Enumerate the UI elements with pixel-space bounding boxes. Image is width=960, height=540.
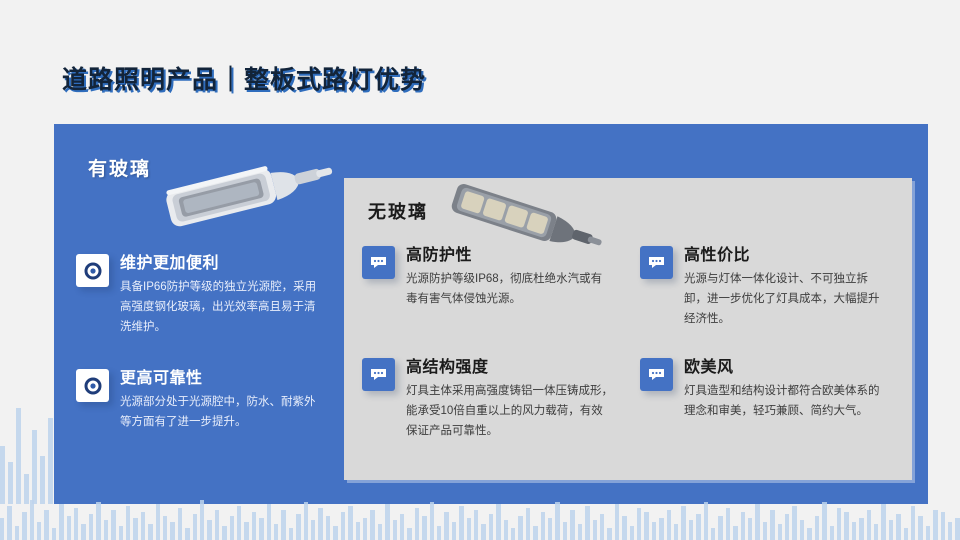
speech-bubble-icon [362, 246, 395, 279]
feature-title: 高性价比 [684, 246, 888, 266]
speech-bubble-icon [362, 358, 395, 391]
decorative-bar [30, 500, 34, 540]
decorative-bar [430, 502, 434, 540]
decorative-bar [200, 500, 204, 540]
decorative-bar [178, 508, 182, 540]
decorative-bar [615, 504, 619, 540]
decorative-bar [44, 510, 48, 540]
ring-icon [76, 254, 109, 287]
decorative-bar [830, 526, 834, 540]
with-glass-label: 有玻璃 [88, 154, 151, 181]
decorative-bar [452, 522, 456, 540]
decorative-bar [593, 520, 597, 540]
feature-item[interactable]: 欧美风 灯具造型和结构设计都符合欧美体系的理念和审美，轻巧兼顾、简约大气。 [640, 358, 888, 421]
decorative-bar [778, 524, 782, 540]
decorative-bar [541, 512, 545, 540]
decorative-bar [15, 526, 19, 540]
decorative-bar [481, 524, 485, 540]
decorative-bar [867, 510, 871, 540]
decorative-bar [24, 474, 29, 504]
decorative-bar [518, 516, 522, 540]
decorative-bar [904, 528, 908, 540]
page-title: 道路照明产品｜整板式路灯优势 [62, 60, 426, 96]
decorative-bar [815, 516, 819, 540]
decorative-bar [74, 508, 78, 540]
decorative-bar [548, 518, 552, 540]
decorative-bar [326, 516, 330, 540]
decorative-bar [296, 514, 300, 540]
decorative-bar [274, 524, 278, 540]
feature-description: 光源防护等级IP68，彻底杜绝水汽或有毒有害气体侵蚀光源。 [406, 269, 612, 309]
feature-title: 高结构强度 [406, 358, 614, 378]
decorative-bar [96, 502, 100, 540]
decorative-bar [926, 526, 930, 540]
no-glass-label: 无玻璃 [368, 198, 428, 224]
decorative-bar [126, 506, 130, 540]
decorative-bar [333, 526, 337, 540]
decorative-bar [356, 522, 360, 540]
decorative-bar [32, 430, 37, 504]
decorative-bar [726, 508, 730, 540]
feature-title: 高防护性 [406, 246, 612, 266]
feature-description: 灯具主体采用高强度铸铝一体压铸成形，能承受10倍自重以上的风力载荷，有效保证产品… [406, 381, 614, 441]
feature-description: 光源与灯体一体化设计、不可独立拆卸，进一步优化了灯具成本，大幅提升经济性。 [684, 269, 888, 329]
decorative-bar [667, 510, 671, 540]
decorative-bar [696, 514, 700, 540]
decorative-bar [148, 524, 152, 540]
decorative-bar [0, 518, 4, 540]
feature-title: 欧美风 [684, 358, 888, 378]
decorative-bar [622, 516, 626, 540]
integrated-street-lamp-icon [439, 182, 609, 256]
comparison-panel: 有玻璃 无玻璃 [54, 124, 928, 504]
decorative-bar [578, 524, 582, 540]
decorative-bar [918, 516, 922, 540]
decorative-bar [474, 510, 478, 540]
decorative-bar [844, 512, 848, 540]
decorative-bar [215, 510, 219, 540]
decorative-bar [881, 504, 885, 540]
decorative-bar [504, 520, 508, 540]
decorative-bar [822, 502, 826, 540]
decorative-bar [341, 512, 345, 540]
feature-description: 具备IP66防护等级的独立光源腔，采用高强度钢化玻璃，出光效率高且易于清洗维护。 [120, 277, 326, 337]
slide-canvas: 道路照明产品｜整板式路灯优势 有玻璃 无玻璃 [0, 0, 960, 540]
decorative-bar [133, 518, 137, 540]
decorative-bar [785, 514, 789, 540]
decorative-bar [511, 528, 515, 540]
decorative-bar [156, 504, 160, 540]
decorative-bar [141, 512, 145, 540]
decorative-bar [185, 528, 189, 540]
decorative-bar [385, 504, 389, 540]
street-lamp-with-glass-icon [149, 154, 339, 234]
decorative-bar [533, 526, 537, 540]
decorative-bar [393, 520, 397, 540]
decorative-bar [733, 526, 737, 540]
decorative-bar [252, 512, 256, 540]
decorative-bar [755, 504, 759, 540]
decorative-bar [933, 510, 937, 540]
decorative-bar [415, 508, 419, 540]
decorative-bar [40, 456, 45, 504]
decorative-bar [89, 514, 93, 540]
decorative-bar [600, 514, 604, 540]
decorative-bar [896, 514, 900, 540]
decorative-bar [770, 510, 774, 540]
decorative-bar [674, 524, 678, 540]
decorative-bar [48, 418, 53, 504]
feature-item[interactable]: 高防护性 光源防护等级IP68，彻底杜绝水汽或有毒有害气体侵蚀光源。 [362, 246, 612, 309]
feature-description: 灯具造型和结构设计都符合欧美体系的理念和审美，轻巧兼顾、简约大气。 [684, 381, 888, 421]
decorative-bar [859, 518, 863, 540]
decorative-bar [555, 502, 559, 540]
decorative-bar [437, 526, 441, 540]
decorative-bar [267, 504, 271, 540]
decorative-bar [563, 522, 567, 540]
speech-bubble-icon [640, 358, 673, 391]
decorative-bar [496, 504, 500, 540]
decorative-bar [407, 528, 411, 540]
decorative-bar [318, 508, 322, 540]
feature-item[interactable]: 维护更加便利 具备IP66防护等级的独立光源腔，采用高强度钢化玻璃，出光效率高且… [76, 254, 326, 337]
decorative-bar [570, 510, 574, 540]
speech-bubble-icon [640, 246, 673, 279]
feature-item[interactable]: 更高可靠性 光源部分处于光源腔中，防水、耐紫外等方面有了进一步提升。 [76, 369, 326, 432]
decorative-bar [104, 520, 108, 540]
decorative-bar [889, 520, 893, 540]
decorative-bars-bottom [0, 500, 960, 540]
decorative-bar [311, 520, 315, 540]
feature-title: 更高可靠性 [120, 369, 326, 389]
decorative-bar [444, 512, 448, 540]
decorative-bar [837, 508, 841, 540]
decorative-bar [955, 518, 959, 540]
decorative-bar [807, 528, 811, 540]
slide-header: 道路照明产品｜整板式路灯优势 [0, 22, 960, 82]
decorative-bar [244, 522, 248, 540]
decorative-bar [230, 516, 234, 540]
decorative-bar [119, 526, 123, 540]
decorative-bar [8, 462, 13, 504]
decorative-bar [718, 516, 722, 540]
decorative-bar [222, 526, 226, 540]
feature-title: 维护更加便利 [120, 254, 326, 274]
decorative-bar [741, 512, 745, 540]
decorative-bar [637, 508, 641, 540]
decorative-bar [630, 526, 634, 540]
decorative-bar [400, 514, 404, 540]
decorative-bar [16, 408, 21, 504]
decorative-bar [304, 502, 308, 540]
decorative-bar [37, 522, 41, 540]
decorative-bar [711, 528, 715, 540]
decorative-bar [370, 510, 374, 540]
decorative-bar [7, 506, 11, 540]
decorative-bar [874, 524, 878, 540]
decorative-bar [800, 520, 804, 540]
decorative-bar [748, 518, 752, 540]
decorative-bar [585, 506, 589, 540]
decorative-bar [948, 522, 952, 540]
decorative-bar [681, 506, 685, 540]
decorative-bar [163, 516, 167, 540]
feature-item[interactable]: 高性价比 光源与灯体一体化设计、不可独立拆卸，进一步优化了灯具成本，大幅提升经济… [640, 246, 888, 329]
decorative-bar [259, 518, 263, 540]
decorative-bar [459, 506, 463, 540]
decorative-bar [363, 518, 367, 540]
decorative-bar [348, 506, 352, 540]
decorative-bar [763, 522, 767, 540]
decorative-bar [941, 512, 945, 540]
decorative-bar [22, 512, 26, 540]
decorative-bar [67, 516, 71, 540]
decorative-bar [81, 524, 85, 540]
decorative-bar [111, 510, 115, 540]
decorative-bar [289, 528, 293, 540]
decorative-bar [59, 504, 63, 540]
no-glass-panel: 无玻璃 [344, 178, 912, 480]
decorative-bar [193, 514, 197, 540]
decorative-bar [911, 506, 915, 540]
decorative-bar [52, 528, 56, 540]
decorative-bar [607, 528, 611, 540]
decorative-bar [704, 502, 708, 540]
decorative-bar [526, 508, 530, 540]
decorative-bar [852, 522, 856, 540]
decorative-bar [652, 522, 656, 540]
decorative-bar [207, 520, 211, 540]
decorative-bar [0, 446, 5, 504]
decorative-bar [689, 520, 693, 540]
decorative-bar [422, 516, 426, 540]
feature-item[interactable]: 高结构强度 灯具主体采用高强度铸铝一体压铸成形，能承受10倍自重以上的风力载荷，… [362, 358, 614, 441]
decorative-bar [467, 518, 471, 540]
feature-description: 光源部分处于光源腔中，防水、耐紫外等方面有了进一步提升。 [120, 392, 326, 432]
decorative-bar [489, 514, 493, 540]
decorative-bar [237, 506, 241, 540]
decorative-bar [170, 522, 174, 540]
decorative-bar [644, 512, 648, 540]
decorative-bar [792, 506, 796, 540]
decorative-bar [378, 524, 382, 540]
decorative-bar [281, 510, 285, 540]
decorative-bar [659, 518, 663, 540]
ring-icon [76, 369, 109, 402]
